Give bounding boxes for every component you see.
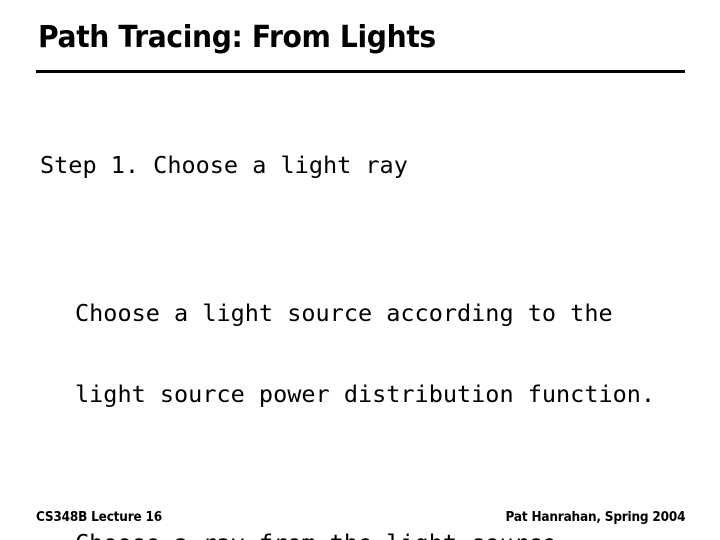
step-1-sub-a-line-1: Choose a light source according to the [75, 300, 720, 327]
footer-author-label: Pat Hanrahan, Spring 2004 [505, 510, 685, 526]
slide-canvas: Path Tracing: From Lights Step 1. Choose… [0, 0, 720, 540]
step-1-sub-a-line-2: light source power distribution function… [75, 381, 720, 408]
title-divider [36, 70, 685, 73]
slide-footer: CS348B Lecture 16 Pat Hanrahan, Spring 2… [36, 508, 685, 528]
step-1-heading: Step 1. Choose a light ray [40, 98, 720, 233]
footer-course-label: CS348B Lecture 16 [36, 510, 162, 526]
page-title: Path Tracing: From Lights [38, 20, 649, 56]
step-1-sub-b-line-1: Choose a ray from the light source [75, 530, 720, 540]
step-1-heading-line: Step 1. Choose a light ray [40, 152, 720, 179]
slide-body: Step 1. Choose a light ray Choose a ligh… [0, 98, 720, 540]
step-1-sub-a: Choose a light source according to the l… [75, 246, 720, 462]
